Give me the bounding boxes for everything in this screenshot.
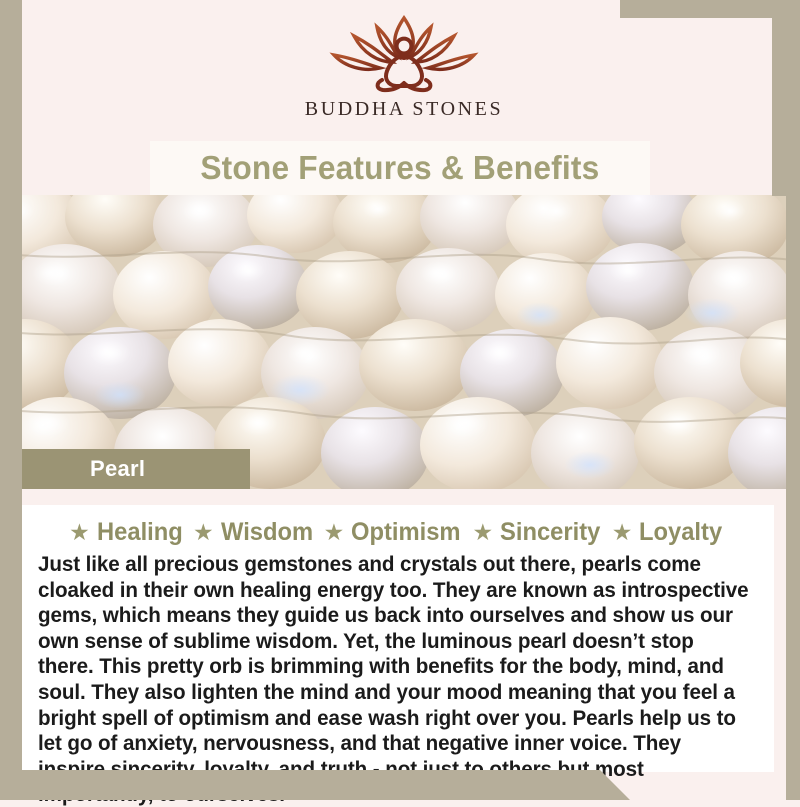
title-banner: Stone Features & Benefits: [150, 141, 650, 195]
star-icon: ★: [324, 521, 345, 544]
content-panel: ★ Healing ★ Wisdom ★ Optimism ★ Sincerit…: [22, 505, 774, 772]
stone-name-label: Pearl: [90, 456, 145, 482]
benefit-keyword-label: Sincerity: [500, 518, 600, 547]
frame-band-left: [0, 0, 22, 800]
benefit-keyword-label: Loyalty: [639, 518, 722, 547]
photo-canvas: [0, 195, 800, 491]
benefit-keyword-loyalty: ★ Loyalty: [612, 518, 727, 547]
star-icon: ★: [473, 521, 494, 544]
benefit-keyword-healing: ★ Healing: [69, 518, 187, 547]
benefit-keyword-optimism: ★ Optimism: [324, 518, 467, 547]
brand-logo: BUDDHA STONES: [22, 10, 786, 121]
brand-wordmark: BUDDHA STONES: [305, 98, 503, 121]
frame-band-top-right: [620, 0, 800, 18]
benefit-keyword-sincerity: ★ Sincerity: [473, 518, 606, 547]
benefit-keyword-label: Optimism: [351, 518, 461, 547]
pearl-stones-photo: [0, 195, 800, 491]
frame-band-right: [786, 0, 800, 800]
description-paragraph: Just like all precious gemstones and cry…: [38, 551, 753, 807]
stone-name-band: Pearl: [22, 449, 250, 489]
star-icon: ★: [69, 521, 90, 544]
star-icon: ★: [612, 521, 633, 544]
lotus-meditation-icon: [314, 10, 494, 96]
star-icon: ★: [193, 521, 214, 544]
benefit-keyword-wisdom: ★ Wisdom: [193, 518, 318, 547]
benefit-keyword-label: Healing: [97, 518, 183, 547]
page-title: Stone Features & Benefits: [200, 149, 599, 187]
benefit-keyword-row: ★ Healing ★ Wisdom ★ Optimism ★ Sincerit…: [38, 515, 758, 549]
benefit-keyword-label: Wisdom: [221, 518, 313, 547]
